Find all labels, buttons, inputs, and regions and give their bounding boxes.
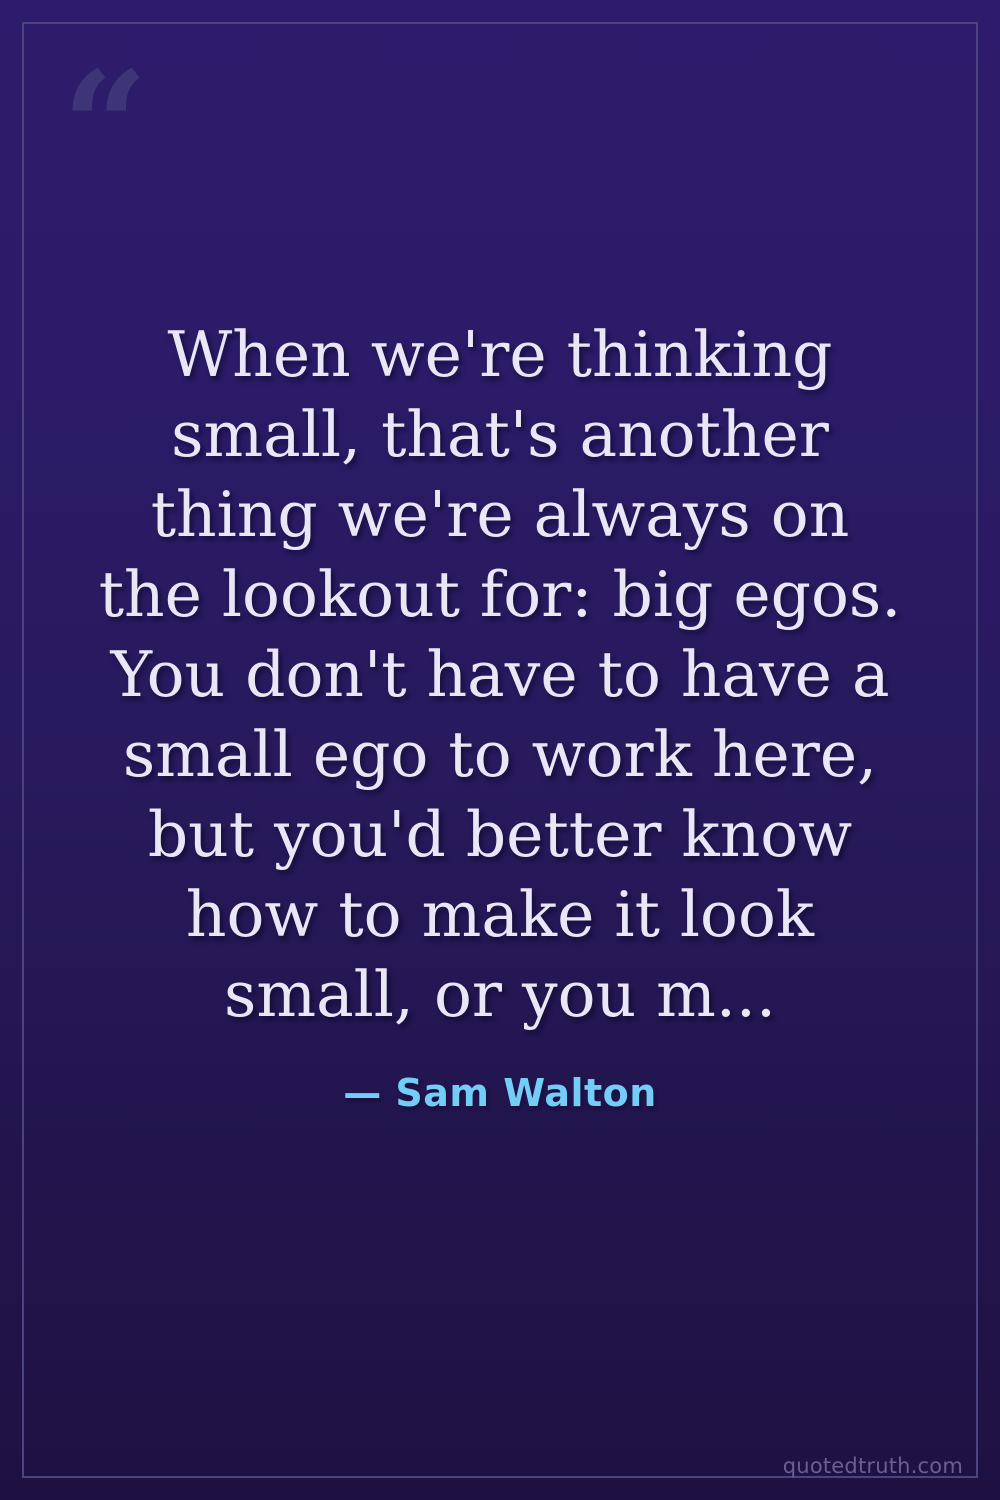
quote-attribution: — Sam Walton xyxy=(343,1071,657,1115)
quote-content: When we're thinking small, that's anothe… xyxy=(0,0,1000,1500)
site-watermark: quotedtruth.com xyxy=(783,1454,963,1478)
quote-text: When we're thinking small, that's anothe… xyxy=(0,315,1000,1035)
quote-card: “ When we're thinking small, that's anot… xyxy=(0,0,1000,1500)
